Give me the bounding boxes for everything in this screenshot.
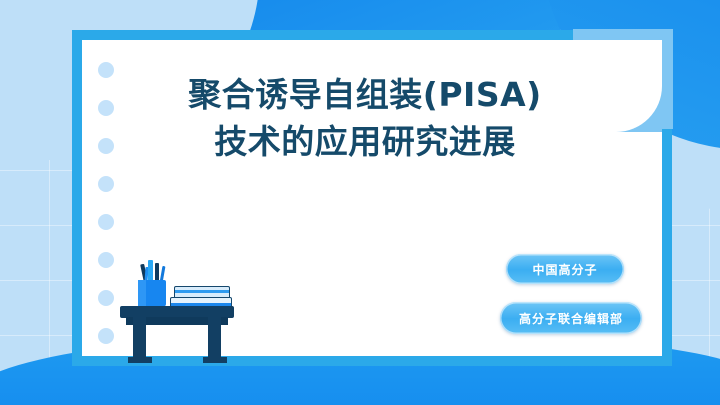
desk-foot-right — [203, 357, 227, 363]
pencil-cup-highlight — [138, 280, 146, 307]
punch-hole-icon — [98, 290, 114, 306]
badge-label: 高分子联合编辑部 — [519, 310, 623, 327]
punch-hole-icon — [98, 328, 114, 344]
desk-foot-left — [128, 357, 152, 363]
punch-hole-icon — [98, 176, 114, 192]
presentation-slide: 聚合诱导自组装(PISA) 技术的应用研究进展 中国高分子 高分子联合编辑部 — [0, 0, 720, 405]
slide-title: 聚合诱导自组装(PISA) 技术的应用研究进展 — [130, 72, 600, 166]
punch-hole-icon — [98, 214, 114, 230]
desk-leg-right — [208, 317, 221, 362]
punch-hole-icon — [98, 100, 114, 116]
desk-leg-left — [133, 317, 146, 362]
slide-title-line-2: 技术的应用研究进展 — [130, 119, 600, 166]
punch-hole-icon — [98, 252, 114, 268]
punch-hole-icon — [98, 62, 114, 78]
notebook-punch-holes — [98, 56, 120, 356]
desk-illustration — [118, 258, 236, 362]
badge-china-polymer[interactable]: 中国高分子 — [506, 254, 624, 284]
punch-hole-icon — [98, 138, 114, 154]
badge-polymer-joint-editorial[interactable]: 高分子联合编辑部 — [500, 302, 642, 334]
book-spine — [175, 290, 229, 293]
badge-label: 中国高分子 — [532, 261, 597, 278]
slide-title-line-1: 聚合诱导自组装(PISA) — [130, 72, 600, 119]
pen-icon — [148, 260, 153, 282]
